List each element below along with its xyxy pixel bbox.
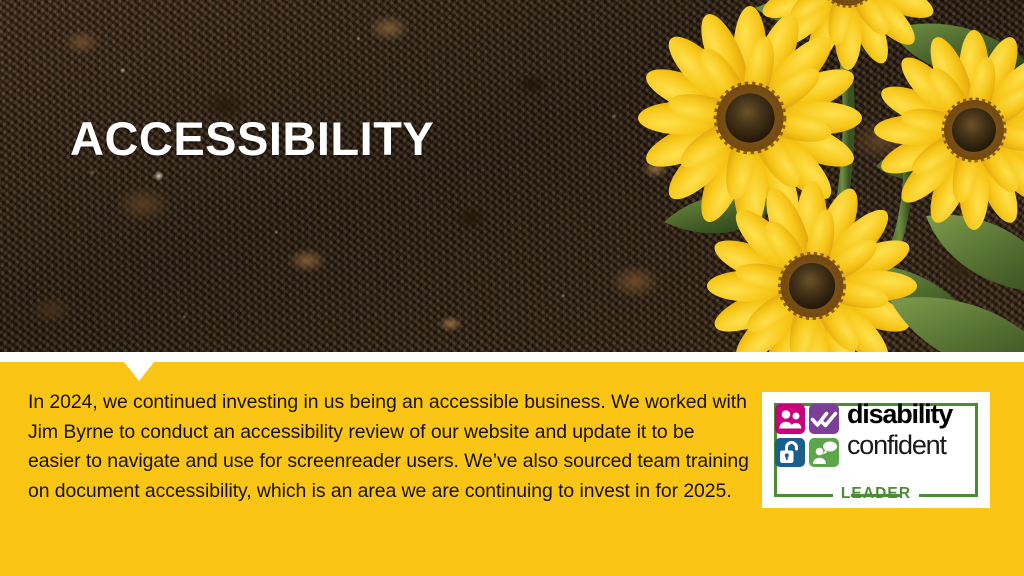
accessibility-slide: ACCESSIBILITY In 2024, we continued inve… [0,0,1024,576]
badge-icon-grid [775,404,839,467]
disability-confident-badge: disability confident LEADER [762,392,990,508]
badge-wordmark: disability confident [847,398,971,460]
badge-word-confident: confident [847,430,971,460]
badge-level-label: LEADER [762,485,990,503]
double-check-icon [809,404,839,434]
open-padlock-icon [775,438,805,468]
badge-word-disability: disability [847,398,971,430]
two-people-icon [775,404,805,434]
person-speech-bubble-icon [809,438,839,468]
band-notch-triangle [124,362,154,381]
sunflowers-image [590,0,1024,352]
page-title: ACCESSIBILITY [70,114,434,163]
hero-photo: ACCESSIBILITY [0,0,1024,352]
body-paragraph: In 2024, we continued investing in us be… [28,388,750,506]
